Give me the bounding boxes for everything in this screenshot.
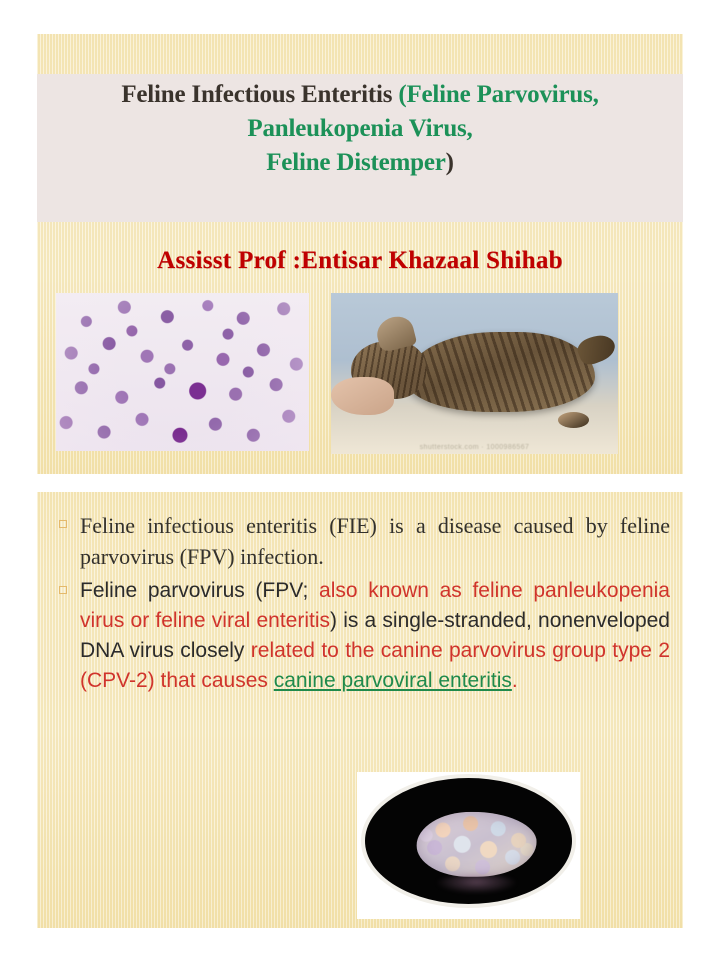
canine-parvoviral-enteritis-link[interactable]: canine parvoviral enteritis: [274, 669, 512, 692]
bullet-1-segment-dark: Feline infectious enteritis (FIE) is a d…: [80, 513, 670, 569]
page-title: Feline Infectious Enteritis (Feline Parv…: [37, 78, 683, 180]
cat-photo-canvas: shutterstock.com · 1000986567: [331, 293, 618, 454]
cat-paw-shape: [558, 412, 590, 428]
bullet-2-text: Feline parvovirus (FPV; also known as fe…: [80, 576, 670, 696]
list-item: Feline parvovirus (FPV; also known as fe…: [50, 576, 670, 696]
bullet-1-text: Feline infectious enteritis (FIE) is a d…: [80, 510, 670, 572]
title-part-green-2: Panleukopenia Virus,: [45, 112, 675, 146]
slide-body: Feline infectious enteritis (FIE) is a d…: [37, 492, 683, 928]
title-part-green-1: (Feline Parvovirus,: [398, 81, 598, 108]
blood-smear-image: [56, 293, 309, 451]
bullet-2-segment-1: Feline parvovirus (FPV;: [80, 579, 319, 602]
presentation-page: Feline Infectious Enteritis (Feline Parv…: [0, 0, 720, 960]
title-part-closing-paren: ): [446, 149, 454, 176]
square-bullet-icon: [59, 586, 67, 594]
slide-title: Feline Infectious Enteritis (Feline Parv…: [37, 34, 683, 474]
human-hand-shape: [331, 377, 394, 416]
list-item: Feline infectious enteritis (FIE) is a d…: [50, 510, 670, 572]
bullet-list: Feline infectious enteritis (FIE) is a d…: [50, 510, 670, 700]
virus-capsid-image: [357, 772, 580, 919]
title-part-green-3: Feline Distemper: [266, 149, 445, 176]
virus-image-backdrop: [365, 778, 572, 904]
blood-smear-cells: [56, 293, 309, 451]
bullet-2-segment-6: .: [512, 669, 518, 692]
square-bullet-icon: [59, 520, 67, 528]
title-part-dark: Feline Infectious Enteritis: [121, 81, 398, 108]
image-watermark: shutterstock.com · 1000986567: [331, 444, 618, 451]
cat-body-shape: [406, 332, 595, 413]
virus-capsid-reflection: [435, 874, 518, 894]
virus-capsid-shape: [417, 812, 537, 878]
author-line: Assisst Prof :Entisar Khazaal Shihab: [37, 247, 683, 275]
sick-cat-image: shutterstock.com · 1000986567: [331, 293, 618, 454]
